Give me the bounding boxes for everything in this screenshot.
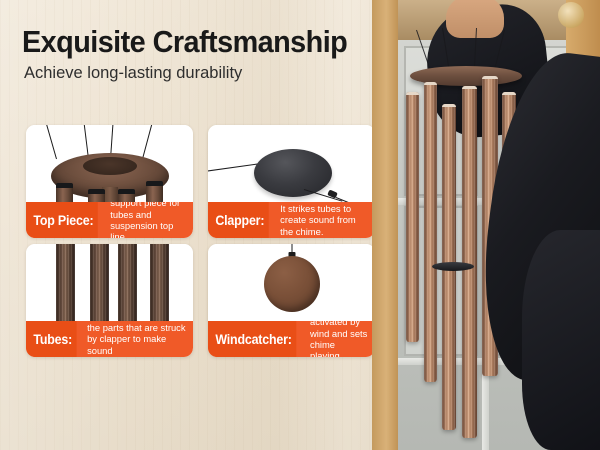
infographic-root: Exquisite Craftsmanship Achieve long-las… bbox=[0, 0, 600, 450]
feature-label: Clapper: bbox=[208, 202, 269, 238]
product-photo bbox=[372, 0, 600, 450]
feature-banner: Clapper: It strikes tubes to create soun… bbox=[208, 202, 375, 238]
clapper-disc bbox=[254, 149, 332, 197]
feature-description: the parts that are struck by clapper to … bbox=[81, 322, 193, 356]
tubes-photo bbox=[26, 244, 193, 323]
feature-label: Top Piece: bbox=[26, 202, 98, 238]
feature-description: activated by wind and sets chime playing… bbox=[304, 321, 375, 357]
page-title: Exquisite Craftsmanship bbox=[22, 24, 347, 60]
page-subtitle: Achieve long-lasting durability bbox=[24, 64, 242, 83]
top-ring-hole bbox=[83, 157, 137, 175]
feature-description: It strikes tubes to create sound from th… bbox=[274, 203, 375, 237]
wall-left bbox=[372, 0, 398, 450]
feature-card-top-piece[interactable]: Top Piece: support piece for tubes and s… bbox=[26, 125, 193, 238]
feature-card-clapper[interactable]: Clapper: It strikes tubes to create soun… bbox=[208, 125, 375, 238]
feature-card-windcatcher[interactable]: Windcatcher: activated by wind and sets … bbox=[208, 244, 375, 357]
feature-label: Windcatcher: bbox=[208, 321, 296, 357]
feature-label: Tubes: bbox=[26, 321, 77, 357]
feature-banner: Tubes: the parts that are struck by clap… bbox=[26, 321, 193, 357]
windcatcher-disc bbox=[264, 256, 320, 312]
feature-card-grid: Top Piece: support piece for tubes and s… bbox=[26, 125, 375, 357]
top-piece-photo bbox=[26, 125, 193, 204]
seal-badge bbox=[558, 2, 584, 28]
feature-banner: Windcatcher: activated by wind and sets … bbox=[208, 321, 375, 357]
clapper-in-photo bbox=[432, 262, 474, 271]
jacket-body bbox=[522, 230, 600, 450]
windcatcher-photo bbox=[208, 244, 375, 323]
feature-description: support piece for tubes and suspension t… bbox=[104, 202, 193, 238]
feature-banner: Top Piece: support piece for tubes and s… bbox=[26, 202, 193, 238]
feature-card-tubes[interactable]: Tubes: the parts that are struck by clap… bbox=[26, 244, 193, 357]
clapper-photo bbox=[208, 125, 375, 204]
